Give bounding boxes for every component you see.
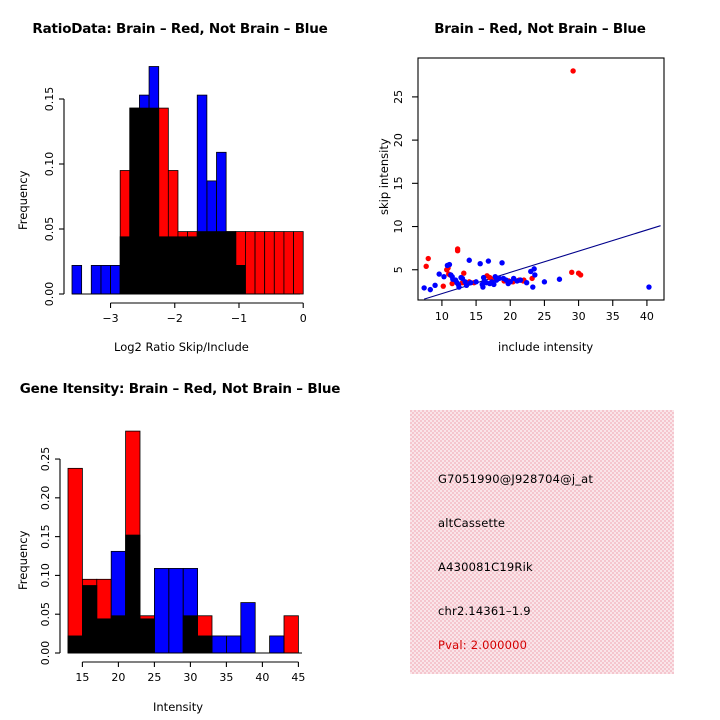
figure-canvas: RatioData: Brain – Red, Not Brain – Blue…	[0, 0, 720, 720]
scatter-point-not-brain	[524, 280, 529, 285]
ratio-y-tick-label: 0.00	[43, 282, 56, 307]
ratio-bar-not-brain	[178, 237, 188, 294]
ratio-bar-not-brain	[217, 152, 227, 294]
scatter-point-not-brain	[458, 275, 463, 280]
gene-x-tick-label: 30	[183, 671, 197, 684]
gene-histogram-bars	[68, 431, 298, 653]
gene-x-tick-label: 35	[219, 671, 233, 684]
scatter-point-not-brain	[542, 279, 547, 284]
scatter-point-not-brain	[477, 261, 482, 266]
ratio-bar-brain	[274, 232, 284, 294]
gene-bar-not-brain	[140, 619, 154, 653]
scatter-point-not-brain	[473, 279, 478, 284]
scatter-point-not-brain	[646, 284, 651, 289]
ratio-bar-brain	[255, 232, 265, 294]
gene-y-tick-label: 0.20	[39, 486, 52, 511]
scatter-x-tick-label: 25	[537, 310, 551, 323]
gene-bar-not-brain	[111, 551, 125, 653]
scatter-point-not-brain	[467, 258, 472, 263]
scatter-y-tick-label: 5	[392, 266, 405, 273]
ratio-y-tick-label: 0.10	[43, 152, 56, 177]
ratio-bar-not-brain	[236, 265, 246, 294]
ratio-bar-not-brain	[226, 232, 236, 294]
ratio-x-tick-label: −3	[102, 312, 118, 325]
gene-x-tick-label: 15	[75, 671, 89, 684]
ratio-bar-brain	[284, 232, 294, 294]
gene-bar-not-brain	[97, 619, 111, 653]
scatter-point-brain	[455, 248, 460, 253]
gene-x-tick-label: 25	[147, 671, 161, 684]
gene-bar-not-brain	[169, 568, 183, 653]
panel-intensity-scatter: Brain – Red, Not Brain – Blue skip inten…	[360, 0, 720, 360]
panel-info: G7051990@J928704@j_at altCassette A43008…	[360, 360, 720, 720]
ratio-bar-not-brain	[188, 237, 198, 294]
ratio-bar-brain	[294, 232, 304, 294]
scatter-plot: 51015202510152025303540	[360, 0, 720, 360]
ratio-bar-not-brain	[91, 265, 101, 294]
gene-x-tick-label: 20	[111, 671, 125, 684]
ratio-bar-not-brain	[139, 95, 149, 294]
scatter-point-brain	[569, 270, 574, 275]
scatter-x-tick-label: 20	[503, 310, 517, 323]
ratio-bar-brain	[265, 232, 275, 294]
gene-y-tick-label: 0.05	[39, 602, 52, 627]
scatter-point-not-brain	[493, 274, 498, 279]
scatter-point-not-brain	[557, 277, 562, 282]
ratio-bar-not-brain	[111, 265, 121, 294]
ratio-bar-not-brain	[168, 237, 178, 294]
scatter-point-brain	[426, 256, 431, 261]
gene-bar-not-brain	[68, 636, 82, 653]
gene-x-tick-label: 45	[291, 671, 305, 684]
gene-bar-not-brain	[198, 636, 212, 653]
pvalue-text: Pval: 2.000000	[438, 638, 527, 652]
ratio-x-tick-label: −1	[231, 312, 247, 325]
scatter-x-tick-label: 10	[435, 310, 449, 323]
ratio-y-tick-label: 0.05	[43, 217, 56, 242]
gene-x-tick-label: 40	[255, 671, 269, 684]
scatter-point-not-brain	[532, 272, 537, 277]
ratio-bar-not-brain	[120, 237, 130, 294]
gene-bar-brain	[284, 616, 298, 653]
scatter-x-tick-label: 15	[469, 310, 483, 323]
info-box: G7051990@J928704@j_at altCassette A43008…	[410, 410, 674, 674]
event-type-text: altCassette	[438, 516, 505, 530]
scatter-x-tick-label: 30	[572, 310, 586, 323]
ratio-x-tick-label: −2	[167, 312, 183, 325]
gene-y-tick-label: 0.15	[39, 524, 52, 549]
scatter-point-not-brain	[432, 283, 437, 288]
scatter-x-tick-label: 35	[606, 310, 620, 323]
scatter-point-not-brain	[481, 275, 486, 280]
ratio-bar-not-brain	[149, 67, 159, 295]
gene-bar-not-brain	[226, 636, 240, 653]
gene-bar-not-brain	[154, 568, 168, 653]
scatter-point-not-brain	[447, 262, 452, 267]
ratio-bar-not-brain	[72, 265, 82, 294]
scatter-points	[421, 68, 651, 292]
scatter-point-not-brain	[530, 284, 535, 289]
scatter-point-not-brain	[486, 258, 491, 263]
scatter-point-not-brain	[428, 287, 433, 292]
ratio-bar-not-brain	[159, 237, 169, 294]
scatter-point-brain	[578, 272, 583, 277]
gene-bar-not-brain	[270, 636, 284, 653]
gene-bar-not-brain	[212, 636, 226, 653]
gene-y-tick-label: 0.10	[39, 563, 52, 588]
scatter-point-brain	[441, 283, 446, 288]
ratio-histogram-plot: 0.000.050.100.15−3−2−10	[0, 0, 360, 360]
scatter-plot-frame	[418, 58, 664, 300]
scatter-point-not-brain	[436, 271, 441, 276]
gene-bar-not-brain	[183, 568, 197, 653]
scatter-point-brain	[424, 264, 429, 269]
scatter-point-not-brain	[441, 274, 446, 279]
ratio-histogram-bars	[72, 67, 303, 295]
gene-y-tick-label: 0.25	[39, 447, 52, 472]
ratio-bar-not-brain	[101, 265, 111, 294]
info-box-dither-pattern	[410, 410, 674, 674]
panel-ratio-histogram: RatioData: Brain – Red, Not Brain – Blue…	[0, 0, 360, 360]
probeset-id-text: G7051990@J928704@j_at	[438, 472, 593, 486]
ratio-bar-not-brain	[197, 95, 207, 294]
gene-bar-not-brain	[82, 586, 96, 654]
locus-text: chr2.14361–1.9	[438, 604, 531, 618]
scatter-y-tick-label: 20	[392, 133, 405, 147]
gene-bar-not-brain	[126, 535, 140, 653]
gene-bar-brain	[68, 468, 82, 653]
gene-symbol-text: A430081C19Rik	[438, 560, 533, 574]
scatter-point-not-brain	[421, 285, 426, 290]
scatter-point-not-brain	[480, 284, 485, 289]
scatter-point-not-brain	[518, 277, 523, 282]
gene-bar-not-brain	[241, 603, 255, 653]
scatter-point-not-brain	[456, 284, 461, 289]
scatter-point-not-brain	[499, 260, 504, 265]
gene-y-tick-label: 0.00	[39, 641, 52, 666]
scatter-y-tick-label: 25	[392, 90, 405, 104]
ratio-y-tick-label: 0.15	[43, 87, 56, 112]
panel-gene-histogram: Gene Itensity: Brain – Red, Not Brain – …	[0, 360, 360, 720]
ratio-bar-not-brain	[130, 108, 140, 294]
scatter-y-tick-label: 15	[392, 176, 405, 190]
ratio-x-tick-label: 0	[300, 312, 307, 325]
ratio-bar-brain	[245, 232, 255, 294]
scatter-point-brain	[570, 68, 575, 73]
scatter-point-not-brain	[464, 283, 469, 288]
ratio-bar-not-brain	[207, 181, 217, 294]
scatter-point-not-brain	[531, 266, 536, 271]
scatter-y-tick-label: 10	[392, 220, 405, 234]
gene-histogram-plot: 0.000.050.100.150.200.2515202530354045	[0, 360, 360, 720]
scatter-x-tick-label: 40	[640, 310, 654, 323]
